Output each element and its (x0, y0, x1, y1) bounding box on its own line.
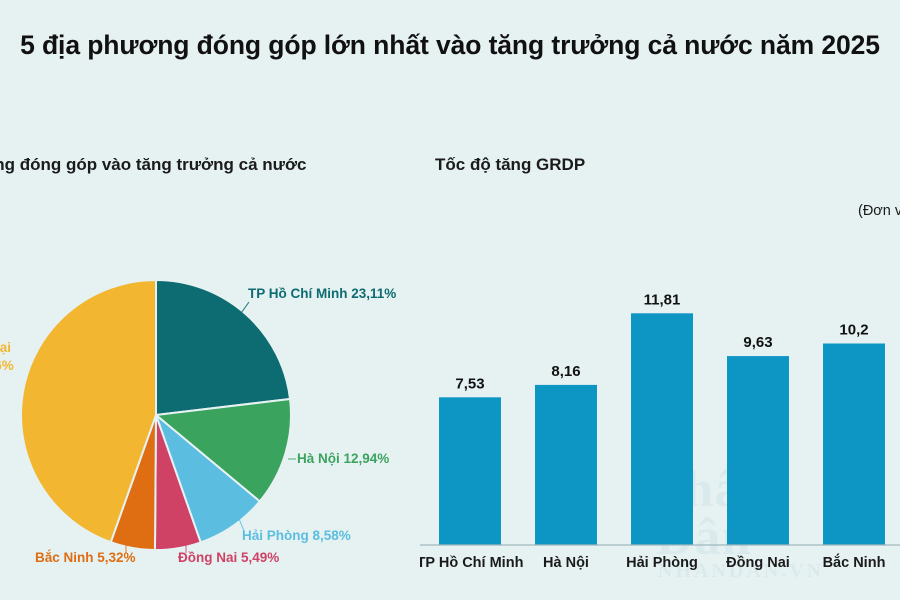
bar-value-label: 11,81 (644, 291, 681, 308)
bar-category-label: Hải Phòng (626, 555, 698, 571)
pie-slice-group (21, 280, 291, 550)
pie-slice-label: Bắc Ninh 5,32% (35, 550, 136, 565)
bar-value-label: 9,63 (743, 334, 772, 351)
bar-chart: 7,538,1611,819,6310,2 TP Hồ Chí MinhHà N… (420, 230, 900, 600)
pie-slice-label: Đồng Nai 5,49% (178, 550, 279, 565)
bar (631, 313, 693, 545)
bar-chart-heading: Tốc độ tăng GRDP (435, 155, 585, 175)
pie-slice-label: Hà Nội 12,94% (297, 451, 389, 466)
bar-chart-svg: 7,538,1611,819,6310,2 TP Hồ Chí MinhHà N… (420, 230, 900, 600)
infographic-canvas: Nhân Dân NHANDAN.VN 5 địa phương đóng gó… (0, 0, 900, 600)
pie-slice-label: TP Hồ Chí Minh 23,11% (248, 286, 396, 301)
pie-slice-label: Còn lại44,56% (0, 340, 14, 373)
bar-category-label: TP Hồ Chí Minh (420, 555, 523, 571)
bar-category-label: Đồng Nai (726, 555, 790, 571)
bar (727, 356, 789, 545)
pie-slice-label: Hải Phòng 8,58% (242, 528, 351, 543)
pie-chart: TP Hồ Chí Minh 23,11%Hà Nội 12,94%Hải Ph… (0, 240, 420, 600)
bar-category-label-group: TP Hồ Chí MinhHà NộiHải PhòngĐồng NaiBắc… (420, 553, 885, 571)
pie-chart-svg: TP Hồ Chí Minh 23,11%Hà Nội 12,94%Hải Ph… (0, 240, 420, 600)
bar-value-label: 10,2 (839, 322, 868, 339)
pie-chart-heading: Tỷ trọng đóng góp vào tăng trưởng cả nướ… (0, 155, 307, 175)
infographic-title: 5 địa phương đóng góp lớn nhất vào tăng … (0, 28, 900, 63)
bar-category-label: Hà Nội (543, 555, 589, 571)
bar-chart-unit-note: (Đơn vị: %) (858, 203, 900, 219)
bar-group (439, 313, 885, 545)
bar-category-label: Bắc Ninh (823, 553, 886, 571)
bar (439, 397, 501, 545)
bar (535, 385, 597, 545)
bar-value-label: 7,53 (455, 375, 484, 392)
bar-value-label: 8,16 (551, 363, 580, 380)
bar (823, 344, 885, 546)
